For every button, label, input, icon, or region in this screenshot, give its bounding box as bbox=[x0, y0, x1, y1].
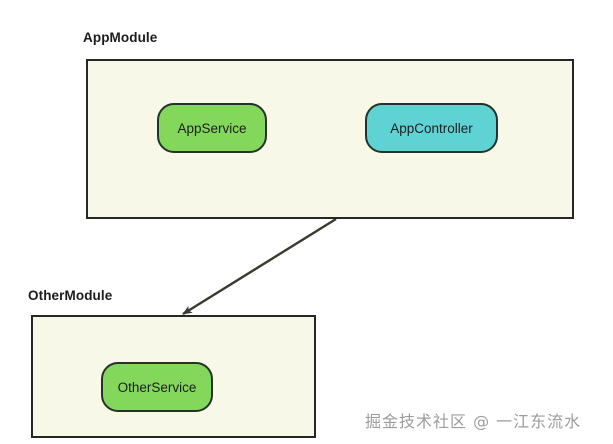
diagram-canvas: AppModule AppService AppController Other… bbox=[0, 0, 613, 444]
node-appcontroller[interactable]: AppController bbox=[365, 103, 498, 153]
node-appservice[interactable]: AppService bbox=[157, 103, 267, 153]
node-otherservice[interactable]: OtherService bbox=[101, 362, 213, 412]
module-title-othermodule: OtherModule bbox=[28, 288, 112, 303]
node-appservice-label: AppService bbox=[177, 121, 246, 136]
node-otherservice-label: OtherService bbox=[118, 380, 197, 395]
edge-appmodule-to-othermodule bbox=[183, 219, 336, 314]
node-appcontroller-label: AppController bbox=[390, 121, 473, 136]
module-title-appmodule: AppModule bbox=[83, 30, 157, 45]
watermark-text: 掘金技术社区 @ 一江东流水 bbox=[365, 408, 581, 432]
